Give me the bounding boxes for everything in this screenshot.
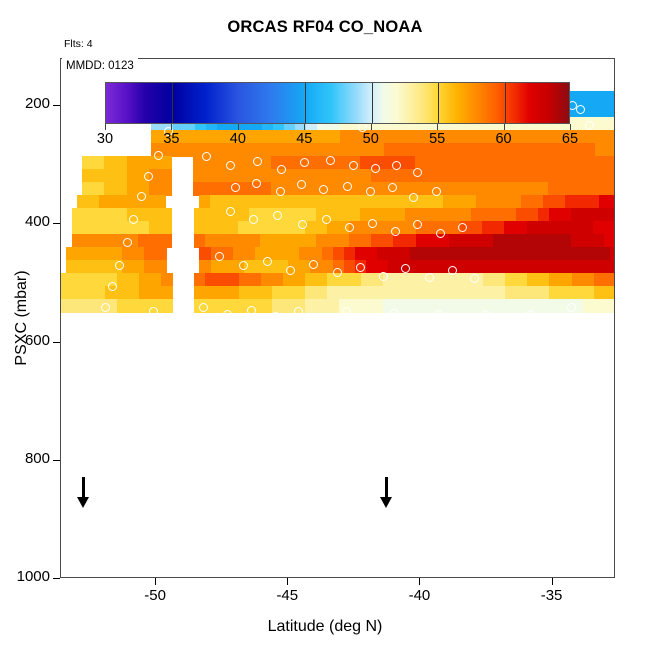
heatmap-cell [582,208,594,222]
heatmap-cell [576,195,588,209]
heatmap-cell [260,182,272,196]
heatmap-cell [466,260,478,274]
sample-marker [318,313,327,322]
heatmap-cell [595,117,607,131]
heatmap-cell [560,234,572,248]
heatmap-cell [537,182,549,196]
colorbar-tick-label: 55 [417,131,457,147]
heatmap-cell [521,195,533,209]
colorbar[interactable]: 3035404550556065 [105,82,570,124]
heatmap-cell [193,169,205,183]
heatmap-cell [579,91,591,105]
heatmap-cell [488,247,500,261]
heatmap-cell [243,195,255,209]
heatmap-cell [316,286,328,300]
heatmap-cell [606,130,615,144]
heatmap-cell [461,286,473,300]
heatmap-cell [471,208,483,222]
heatmap-cell [606,104,615,118]
heatmap-cell [573,117,585,131]
y-axis-tick-label: 200 [0,95,50,112]
sample-marker [356,263,365,272]
heatmap-cell [222,260,234,274]
heatmap-cell [443,195,455,209]
heatmap-cell [133,247,145,261]
heatmap-cell [366,260,378,274]
heatmap-cell [83,286,95,300]
heatmap-cell [365,195,377,209]
heatmap-cell [94,208,106,222]
heatmap-cell [83,299,95,313]
heatmap-cell [587,195,599,209]
heatmap-cell [388,195,400,209]
heatmap-cell [228,273,240,287]
y-axis-title: PSXC (mbar) [13,270,31,365]
heatmap-cell [482,169,494,183]
heatmap-cell [199,195,211,209]
heatmap-cell [462,130,474,144]
heatmap-cell [110,195,122,209]
heatmap-cell [471,169,483,183]
heatmap-cell [460,156,472,170]
sample-marker [503,316,512,325]
heatmap-cell [604,221,615,235]
heatmap-cell [604,234,615,248]
heatmap-cell [239,273,251,287]
heatmap-cell [322,247,334,261]
heatmap-cell [599,195,611,209]
heatmap-cell [349,234,361,248]
page-title: ORCAS RF04 CO_NOAA [0,18,650,37]
heatmap-cell [399,247,411,261]
y-axis-tick [53,223,60,224]
heatmap-cell [437,169,449,183]
heatmap-cell [94,221,106,235]
heatmap-cell [504,221,516,235]
heatmap-cell [604,182,615,196]
x-axis-tick-label: -50 [125,587,185,604]
heatmap-cell [477,260,489,274]
heatmap-cell [250,273,262,287]
heatmap-cell [233,247,245,261]
heatmap-cell [593,169,605,183]
heatmap-cell [406,130,418,144]
heatmap-cell [138,221,150,235]
heatmap-cell [560,221,572,235]
heatmap-cell [466,247,478,261]
heatmap-cell [238,156,250,170]
heatmap-cell [72,221,84,235]
heatmap-cell [271,234,283,248]
heatmap-cell [606,117,615,131]
heatmap-cell [504,156,516,170]
heatmap-cell [416,234,428,248]
x-axis-tick [552,578,553,585]
heatmap-cell [549,299,561,313]
heatmap-cell [593,208,605,222]
heatmap-cell [538,299,550,313]
heatmap-cell [538,208,550,222]
heatmap-cell [366,247,378,261]
heatmap-cell [438,208,450,222]
heatmap-cell [488,260,500,274]
sample-marker [199,303,208,312]
heatmap-cell [149,208,161,222]
heatmap-cell [393,169,405,183]
heatmap-cell [571,182,583,196]
heatmap-cell [427,208,439,222]
colorbar-tick [371,124,372,130]
heatmap-cell [372,299,384,313]
sample-marker [342,307,351,316]
colorbar-divider [372,83,373,123]
heatmap-cell [337,156,349,170]
y-axis-tick [53,460,60,461]
heatmap-cell [82,156,94,170]
sample-marker [343,182,352,191]
heatmap-cell [593,156,605,170]
heatmap-cell [93,169,105,183]
heatmap-cell [77,247,89,261]
heatmap-cell [83,273,95,287]
heatmap-cell [561,286,573,300]
heatmap-cell [104,169,116,183]
heatmap-cell [549,273,561,287]
heatmap-cell [471,156,483,170]
heatmap-cell [544,247,556,261]
heatmap-cell [215,169,227,183]
heatmap-cell [193,182,205,196]
sample-marker [576,105,585,114]
heatmap-cell [528,143,540,157]
heatmap-cell [595,130,607,144]
heatmap-cell [460,234,472,248]
sample-marker [202,152,211,161]
heatmap-cell [161,286,173,300]
heatmap-cell [583,286,595,300]
x-axis-tick [155,578,156,585]
heatmap-cell [548,182,560,196]
heatmap-cell [272,286,284,300]
heatmap-cell [559,156,571,170]
heatmap-cell [543,195,555,209]
heatmap-cell [66,247,78,261]
colorbar-tick [437,124,438,130]
heatmap-cell [328,130,340,144]
heatmap-cell [88,260,100,274]
plot-frame [60,58,615,578]
heatmap-cell [394,286,406,300]
heatmap-cell [605,299,615,313]
heatmap-cell [527,221,539,235]
heatmap-cell [561,273,573,287]
heatmap-cell [361,286,373,300]
heatmap-cell [321,195,333,209]
colorbar-tick-label: 35 [151,131,191,147]
heatmap-cell [494,299,506,313]
heatmap-cell [294,234,306,248]
heatmap-cell [462,143,474,157]
colorbar-tick [304,124,305,130]
heatmap-cell [382,169,394,183]
heatmap-cell [115,156,127,170]
heatmap-cell [249,234,261,248]
heatmap-cell [377,195,389,209]
heatmap-cell [262,143,274,157]
heatmap-cell [216,234,228,248]
heatmap-cell [127,182,139,196]
heatmap-cell [194,221,206,235]
heatmap-cell [305,273,317,287]
heatmap-cell [360,234,372,248]
heatmap-cell [128,273,140,287]
heatmap-cell [483,286,495,300]
heatmap-cell [326,169,338,183]
heatmap-cell [111,247,123,261]
heatmap-cell [571,208,583,222]
heatmap-cell [433,247,445,261]
heatmap-cell [310,247,322,261]
heatmap-cell [82,169,94,183]
heatmap-cell [460,208,472,222]
heatmap-cell [572,286,584,300]
colorbar-divider [172,83,173,123]
heatmap-cell [438,286,450,300]
heatmap-cell [426,156,438,170]
x-axis-tick [419,578,420,585]
heatmap-cell [138,234,150,248]
heatmap-cell [554,195,566,209]
heatmap-cell [499,195,511,209]
heatmap-cell [354,195,366,209]
heatmap-cell [282,208,294,222]
heatmap-cell [216,221,228,235]
colorbar-tick [504,124,505,130]
heatmap-cell [238,221,250,235]
heatmap-cell [138,156,150,170]
heatmap-cell [410,247,422,261]
heatmap-cell [394,273,406,287]
heatmap-cell [261,286,273,300]
heatmap-cell [527,286,539,300]
heatmap-cell [549,221,561,235]
heatmap-cell [228,286,240,300]
heatmap-cell [315,156,327,170]
heatmap-cell [504,234,516,248]
heatmap-cell [99,195,111,209]
x-axis-tick-label: -40 [389,587,449,604]
heatmap-cell [282,234,294,248]
heatmap-cell [239,286,251,300]
sample-marker [481,310,490,319]
heatmap-cell [455,247,467,261]
heatmap-cell [593,221,605,235]
heatmap-cell [288,247,300,261]
heatmap-cell [82,182,94,196]
heatmap-cell [538,221,550,235]
sample-marker [371,164,380,173]
heatmap-cell [538,273,550,287]
heatmap-cell [117,299,129,313]
heatmap-cell [595,143,607,157]
heatmap-cell [405,273,417,287]
sample-marker [391,227,400,236]
heatmap-cell [116,208,128,222]
heatmap-cell [612,91,615,105]
y-axis-tick [53,578,60,579]
heatmap-cell [527,234,539,248]
sample-marker [123,238,132,247]
heatmap-cell [395,130,407,144]
heatmap-cell [521,247,533,261]
heatmap-cell [582,234,594,248]
flights-annotation: Flts: 4 [64,38,93,50]
heatmap-cell [593,182,605,196]
colorbar-tick [238,124,239,130]
heatmap-cell [432,195,444,209]
colorbar-gradient-box [105,82,570,124]
heatmap-cell [360,156,372,170]
heatmap-cell [288,195,300,209]
heatmap-cell [571,221,583,235]
heatmap-cell [521,260,533,274]
heatmap-cell [560,208,572,222]
heatmap-cell [127,156,139,170]
heatmap-cell [305,208,317,222]
heatmap-cell [310,195,322,209]
heatmap-cell [549,208,561,222]
heatmap-cell [316,299,328,313]
heatmap-cell [61,273,73,287]
colorbar-tick [171,124,172,130]
heatmap-cell [260,234,272,248]
heatmap-cell [340,130,352,144]
y-axis-tick [53,342,60,343]
heatmap-cell [450,299,462,313]
colorbar-tick [105,124,106,130]
heatmap-cell [205,286,217,300]
heatmap-cell [205,221,217,235]
heatmap-cell [604,156,615,170]
sample-marker [526,310,535,319]
heatmap-cell [93,182,105,196]
heatmap-cell [261,273,273,287]
heatmap-cell [493,156,505,170]
heatmap-cell [332,195,344,209]
heatmap-cell [426,169,438,183]
heatmap-cell [388,247,400,261]
heatmap-cell [504,208,516,222]
sample-marker [392,161,401,170]
sample-marker [300,158,309,167]
heatmap-cell [199,247,211,261]
heatmap-cell [594,286,606,300]
heatmap-cell [272,299,284,313]
heatmap-cell [343,195,355,209]
heatmap-cell [266,195,278,209]
heatmap-cell [350,273,362,287]
heatmap-cell [393,208,405,222]
sample-marker [434,310,443,319]
heatmap-cell [516,299,528,313]
heatmap-cell [448,169,460,183]
sample-marker [309,260,318,269]
colorbar-tick [570,124,571,130]
heatmap-cell [477,247,489,261]
heatmap-cell [238,208,250,222]
heatmap-cell [299,247,311,261]
heatmap-cell [583,273,595,287]
heatmap-cell [577,247,589,261]
colorbar-divider [438,83,439,123]
heatmap-cell [505,299,517,313]
heatmap-cell [449,208,461,222]
heatmap-cell [349,169,361,183]
heatmap-cell [204,169,216,183]
heatmap-cell [404,156,416,170]
date-annotation: MMDD: 0123 [62,58,138,75]
heatmap-cell [344,260,356,274]
heatmap-cell [588,247,600,261]
heatmap-cell [610,260,615,274]
heatmap-cell [277,195,289,209]
heatmap-cell [299,195,311,209]
heatmap-cell [526,169,538,183]
heatmap-cell [105,208,117,222]
heatmap-cell [604,208,615,222]
heatmap-cell [117,273,129,287]
heatmap-cell [211,260,223,274]
heatmap-cell [128,286,140,300]
heatmap-cell [555,247,567,261]
heatmap-cell [572,273,584,287]
heatmap-cell [494,273,506,287]
colorbar-tick-label: 65 [550,131,590,147]
heatmap-cell [160,208,172,222]
heatmap-cell [433,260,445,274]
heatmap-cell [83,234,95,248]
heatmap-cell [383,286,395,300]
heatmap-cell [226,169,238,183]
heatmap-cell [326,182,338,196]
heatmap-cell [527,273,539,287]
heatmap-cell [339,286,351,300]
x-axis-title: Latitude (deg N) [0,618,650,636]
heatmap-cell [516,273,528,287]
heatmap-cell [283,299,295,313]
sample-marker [390,309,399,318]
heatmap-cell [565,195,577,209]
heatmap-cell [260,169,272,183]
heatmap-cell [122,247,134,261]
heatmap-cell [460,182,472,196]
heatmap-cell [482,234,494,248]
heatmap-cell [605,286,615,300]
heatmap-cell [494,286,506,300]
heatmap-cell [405,286,417,300]
heatmap-cell [548,156,560,170]
heatmap-cell [72,208,84,222]
heatmap-cell [416,286,428,300]
heatmap-cell [139,273,151,287]
heatmap-cell [260,208,272,222]
heatmap-cell [405,234,417,248]
sample-marker [108,282,117,291]
heatmap-cell [250,286,262,300]
heatmap-cell [210,195,222,209]
heatmap-cell [493,169,505,183]
heatmap-cell [588,260,600,274]
